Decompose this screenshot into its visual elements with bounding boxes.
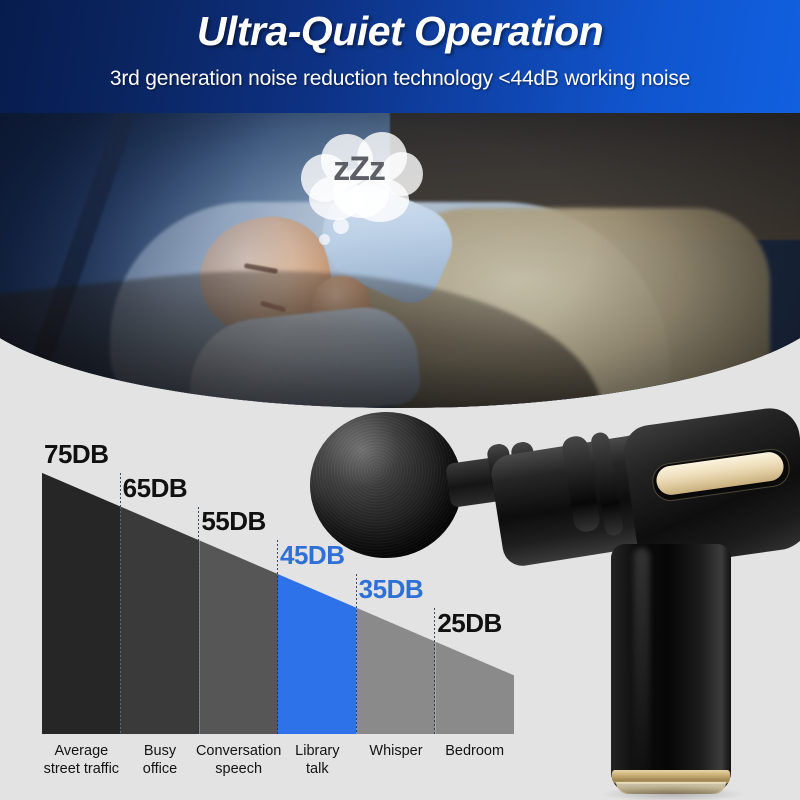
header-banner: Ultra-Quiet Operation 3rd generation noi… [0,0,800,113]
product-infographic: Ultra-Quiet Operation 3rd generation noi… [0,0,800,800]
chart-bar [121,507,200,734]
chart-bar-fill [121,507,200,734]
chart-value-label: 75DB [44,439,108,470]
chart-value-label: 55DB [201,506,265,537]
gun-ball-head [310,412,462,558]
gun-handle [611,544,731,794]
bubble-tail-large [333,218,349,234]
chart-value-label: 65DB [123,473,187,504]
massage-gun-product [300,398,800,800]
chart-bar-fill [42,473,121,734]
chart-bar-fill [199,540,278,734]
sleep-bubble: zZz [293,132,425,224]
chart-bar [42,473,121,734]
gun-handle-highlight [634,548,650,778]
bubble-tail-small [319,234,330,245]
page-subtitle: 3rd generation noise reduction technolog… [0,67,800,91]
chart-bar [199,540,278,734]
page-title: Ultra-Quiet Operation [0,8,800,55]
zzz-label: zZz [293,150,425,189]
gun-ground-shadow [600,786,746,800]
